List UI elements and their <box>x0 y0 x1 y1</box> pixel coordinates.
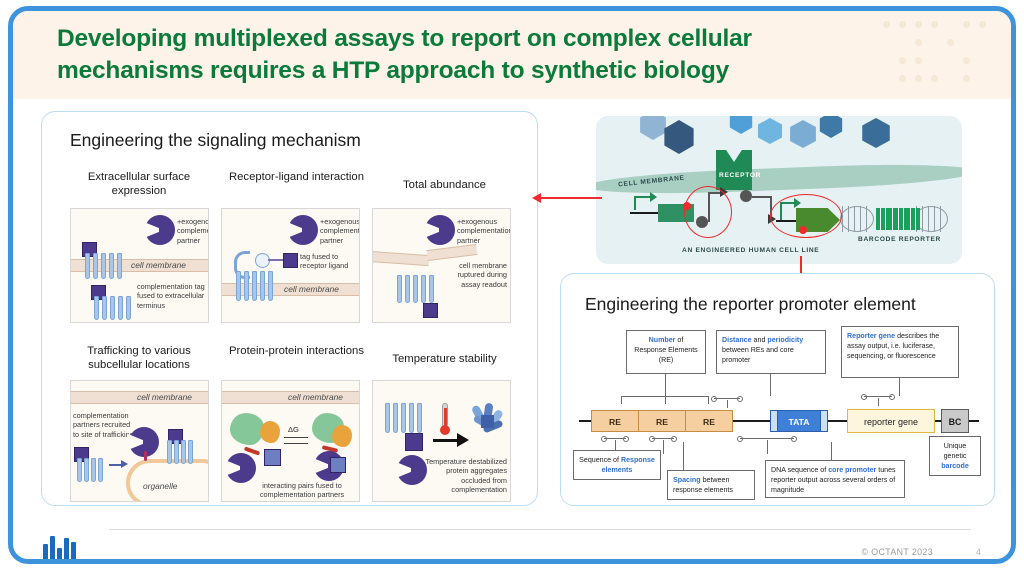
label-partner-2: +exogenous complementation partner <box>320 217 360 245</box>
label-membrane-1: cell membrane <box>131 260 186 270</box>
ruptured-membrane-left <box>372 251 429 266</box>
ruptured-membrane-right <box>427 244 478 261</box>
copyright-text: © OCTANT 2023 <box>862 547 934 557</box>
card-extracellular: +exogenous complementation partner cell … <box>70 208 209 323</box>
card-title-temperature: Temperature stability <box>372 352 517 366</box>
equilibrium-arrow-top <box>284 437 308 438</box>
panel-signaling-mechanism: Engineering the signaling mechanism Extr… <box>41 111 538 506</box>
tag-square-ligand <box>283 253 298 268</box>
label-note-1: complementation tag fused to extracellul… <box>137 282 207 310</box>
tag-square-6 <box>264 449 281 466</box>
dot-grid-decoration <box>883 21 1003 99</box>
card-temperature: Temperature destabilized protein aggrega… <box>372 380 511 502</box>
footer-divider <box>109 529 971 530</box>
leader-line-top-3 <box>899 378 900 396</box>
page-title: Developing multiplexed assays to report … <box>57 23 867 88</box>
core-promoter-tata: TATA <box>777 410 821 432</box>
callout-number-of-res: Number of Response Elements (RE) <box>626 330 706 374</box>
complementation-partner-icon <box>226 453 256 483</box>
label-note-4: complementation partners recruited to si… <box>73 411 135 439</box>
octant-logo <box>43 532 83 562</box>
label-note-6: Temperature destabilized protein aggrega… <box>425 457 507 495</box>
hex-molecule-icon <box>728 116 754 134</box>
label-delta-g: ΔG <box>288 425 299 434</box>
label-receptor: RECEPTOR <box>719 172 761 179</box>
process-arrow-head <box>457 433 469 447</box>
tag-square-7 <box>330 457 346 473</box>
equilibrium-arrow-bottom <box>284 443 308 444</box>
label-membrane-4: cell membrane <box>137 392 192 402</box>
label-membrane-2: cell membrane <box>284 284 339 294</box>
card-receptor-ligand: +exogenous complementation partner cell … <box>221 208 360 323</box>
spacing-marker-5 <box>861 394 895 400</box>
hex-molecule-icon <box>818 116 844 138</box>
slide-header: Developing multiplexed assays to report … <box>13 11 1011 99</box>
promoter-stem-left <box>634 196 636 210</box>
panel-title-promoter: Engineering the reporter promoter elemen… <box>585 294 916 315</box>
aggregate-icon <box>471 403 505 437</box>
label-cell-line: AN ENGINEERED HUMAN CELL LINE <box>682 247 819 254</box>
label-note-3: cell membrane ruptured during assay read… <box>443 261 507 289</box>
card-ppi: cell membrane ΔG interacting pairs fused… <box>221 380 360 502</box>
trafficking-arrow-head <box>121 460 128 468</box>
callout-unique-barcode: Unique genetic barcode <box>929 436 981 476</box>
card-trafficking: cell membrane complementation partners r… <box>70 380 209 502</box>
slide: Developing multiplexed assays to report … <box>8 6 1016 564</box>
complementation-partner-icon <box>425 215 455 245</box>
page-number: 4 <box>976 547 981 557</box>
complementation-partner-icon <box>397 455 427 485</box>
signal-line-3 <box>752 196 772 198</box>
card-total-abundance: +exogenous complementation partner cell … <box>372 208 511 323</box>
card-title-total-abundance: Total abundance <box>372 178 517 192</box>
receptor-helix-4 <box>397 275 435 303</box>
receptor-helix-7 <box>385 403 423 433</box>
hex-molecule-icon <box>638 116 668 140</box>
highlight-dot-2 <box>799 226 807 234</box>
callout-core-promoter: DNA sequence of core promoter tunes repo… <box>765 460 905 498</box>
card-title-trafficking: Trafficking to various subcellular locat… <box>60 344 218 372</box>
barcode-box: BC <box>941 409 969 433</box>
receptor-shape <box>716 150 752 190</box>
panel-title-signaling: Engineering the signaling mechanism <box>70 130 361 151</box>
callout-sequence-of-res: Sequence of Response elements <box>573 450 661 480</box>
tether-icon <box>144 451 147 461</box>
label-organelle: organelle <box>143 481 177 491</box>
leader-line-top-1 <box>665 374 666 396</box>
receptor-helix-3 <box>236 271 274 301</box>
connector-arrow-to-signaling <box>540 197 602 199</box>
process-arrow <box>433 439 459 442</box>
receptor-helix-1 <box>85 253 123 279</box>
signal-node-2 <box>740 190 752 202</box>
highlight-ellipse-receptor <box>684 186 732 238</box>
response-element-3: RE <box>685 410 733 432</box>
label-note-5: interacting pairs fused to complementati… <box>246 481 358 500</box>
label-barcode-reporter: BARCODE REPORTER <box>858 236 941 243</box>
label-partner-3: +exogenous complementation partner <box>457 217 509 245</box>
hex-molecule-icon <box>788 120 818 148</box>
spacing-marker-2 <box>601 436 629 442</box>
tag-square-8 <box>405 433 423 451</box>
protein-blob-orange-2 <box>332 425 352 447</box>
receptor-helix-6 <box>167 440 197 464</box>
receptor-helix-5 <box>77 458 107 482</box>
card-title-ppi: Protein-protein interactions <box>224 344 369 358</box>
response-element-2: RE <box>638 410 686 432</box>
spacing-marker-1 <box>711 396 743 402</box>
engineered-cell-diagram: CELL MEMBRANE RECEPTOR BARCODE REPORT <box>596 116 962 264</box>
hex-molecule-icon <box>756 118 784 144</box>
callout-distance-periodicity: Distance and periodicity between REs and… <box>716 330 826 374</box>
callout-reporter-gene: Reporter gene describes the assay output… <box>841 326 959 378</box>
core-promoter-flank-right <box>820 410 828 432</box>
complementation-partner-icon <box>145 215 175 245</box>
complementation-partner-icon <box>288 215 318 245</box>
protein-blob-green-1 <box>230 413 264 445</box>
promoter-arrowhead-left <box>650 192 657 202</box>
leader-tick-3 <box>708 396 709 404</box>
ligand-linker <box>268 259 284 261</box>
label-partner-1: +exogenous complementation partner <box>177 217 209 245</box>
spacing-marker-3 <box>649 436 677 442</box>
leader-tick-2 <box>665 396 666 404</box>
reporter-gene-box: reporter gene <box>847 409 935 433</box>
barcode-strip <box>876 208 920 230</box>
hex-molecule-icon <box>860 118 892 148</box>
highlight-dot-1 <box>683 202 691 210</box>
response-element-1: RE <box>591 410 639 432</box>
panel-reporter-promoter: Engineering the reporter promoter elemen… <box>560 273 995 506</box>
hex-molecule-icon <box>662 120 696 154</box>
leader-line-bottom-2 <box>831 442 832 460</box>
leader-line-top-2 <box>770 374 771 396</box>
card-title-receptor-ligand: Receptor-ligand interaction <box>224 170 369 184</box>
card-title-extracellular: Extracellular surface expression <box>64 170 214 198</box>
callout-spacing: Spacing between response elements <box>667 470 755 500</box>
leader-line-bottom-1 <box>683 442 684 470</box>
leader-tick-1 <box>621 396 622 404</box>
tag-square-3 <box>423 303 438 318</box>
label-membrane-5: cell membrane <box>288 392 343 402</box>
label-tag-2: tag fused to receptor ligand <box>300 252 358 271</box>
receptor-helix-2 <box>94 296 132 320</box>
protein-blob-orange-1 <box>260 421 280 443</box>
spacing-marker-4 <box>737 436 797 442</box>
